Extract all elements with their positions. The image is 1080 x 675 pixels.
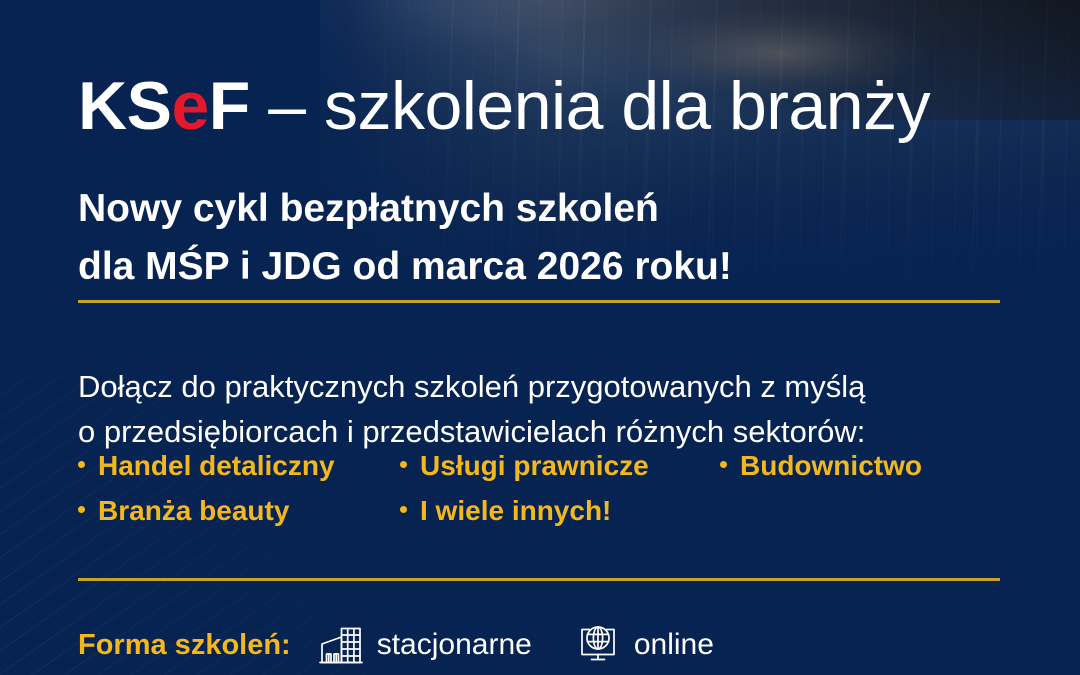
sector-item-label: Budownictwo [740,450,922,482]
brand-ksef-accent-letter: e [171,68,208,144]
training-format-label: stacjonarne [377,628,532,662]
lead-line-1: Dołącz do praktycznych szkoleń przygotow… [78,364,865,409]
sector-item-label: Handel detaliczny [98,450,335,482]
sector-item-budownictwo: Budownictwo [720,450,922,482]
lead-line-2: o przedsiębiorcach i przedstawicielach r… [78,409,865,454]
training-formats: Forma szkoleń: [78,622,756,668]
sector-item-i-wiele-innych: I wiele innych! [400,495,720,527]
divider-bottom [78,578,1000,581]
brand-ksef-prefix: KS [78,68,171,144]
sector-list: Handel detaliczny Usługi prawnicze Budow… [78,450,1018,540]
poster-root: KSeF – szkolenia dla branży Nowy cykl be… [0,0,1080,675]
sector-item-uslugi-prawnicze: Usługi prawnicze [400,450,720,482]
page-subtitle-line-2: dla MŚP i JDG od marca 2026 roku! [78,238,732,295]
sector-row: Handel detaliczny Usługi prawnicze Budow… [78,450,1018,495]
sector-item-branza-beauty: Branża beauty [78,495,400,527]
sector-item-label: Usługi prawnicze [420,450,649,482]
lead-paragraph: Dołącz do praktycznych szkoleń przygotow… [78,364,865,455]
bullet-dot-icon [720,461,727,468]
training-formats-label: Forma szkoleń: [78,629,291,662]
brand-ksef-suffix: F [209,68,250,144]
sector-row: Branża beauty I wiele innych! [78,495,1018,540]
bullet-dot-icon [400,461,407,468]
sector-item-label: Branża beauty [98,495,289,527]
bullet-dot-icon [78,461,85,468]
page-subtitle: Nowy cykl bezpłatnych szkoleń dla MŚP i … [78,180,732,295]
bullet-dot-icon [400,506,407,513]
training-format-online: online [574,622,714,668]
sector-item-label: I wiele innych! [420,495,611,527]
office-building-icon [317,622,365,668]
monitor-globe-icon [574,622,622,668]
page-subtitle-line-1: Nowy cykl bezpłatnych szkoleń [78,180,732,237]
divider-top [78,300,1000,303]
page-title-rest: – szkolenia dla branży [250,68,930,144]
bullet-dot-icon [78,506,85,513]
sector-item-handel-detaliczny: Handel detaliczny [78,450,400,482]
training-format-label: online [634,628,714,662]
training-format-stacjonarne: stacjonarne [317,622,532,668]
poster-content: KSeF – szkolenia dla branży Nowy cykl be… [0,0,1080,675]
page-title: KSeF – szkolenia dla branży [78,72,930,140]
